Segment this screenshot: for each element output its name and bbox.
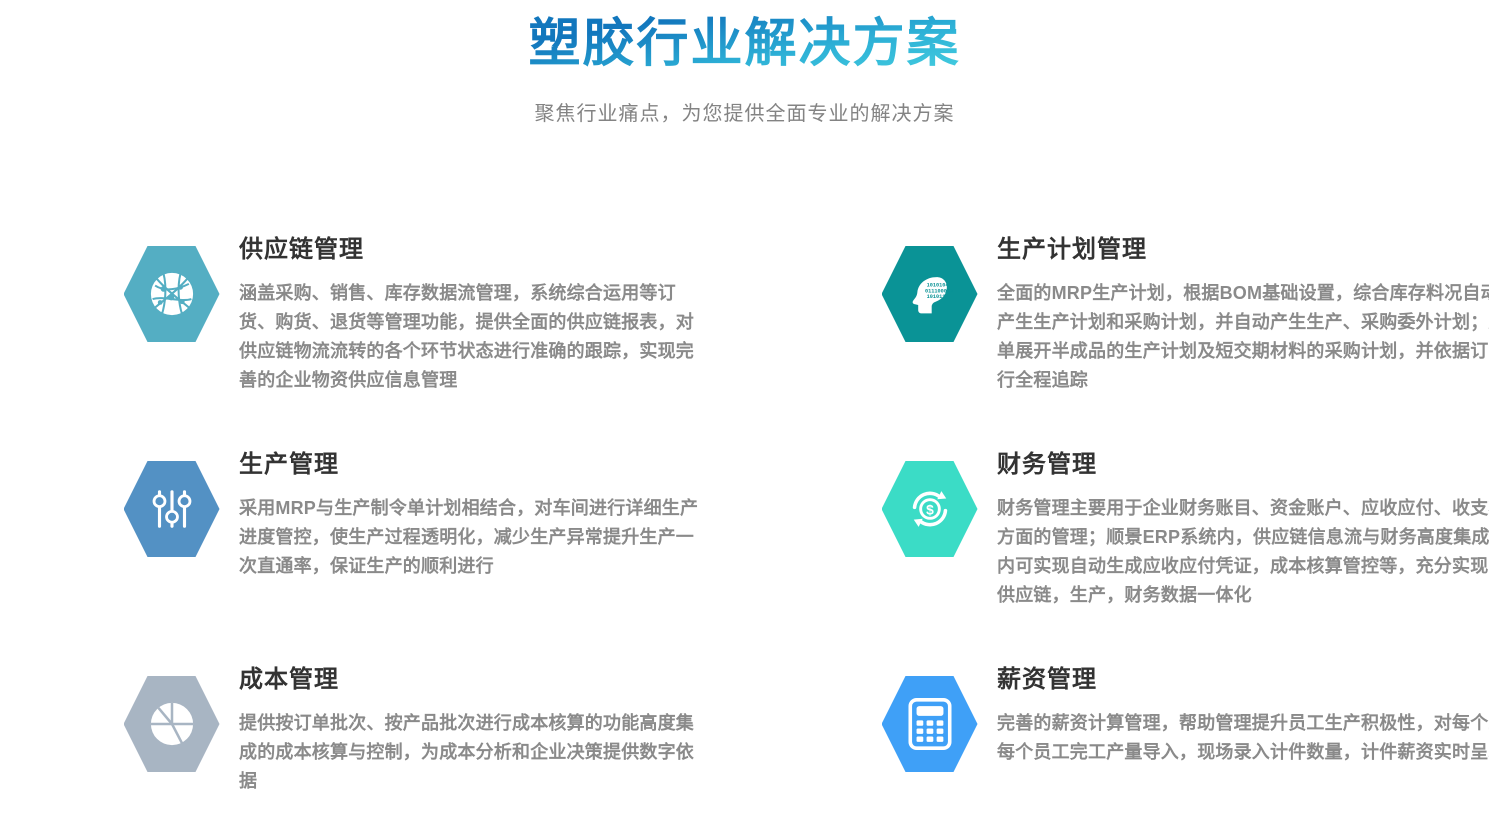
- feature-title: 生产计划管理: [997, 236, 1489, 265]
- feature-card-supply-chain[interactable]: 供应链管理 涵盖采购、销售、库存数据流管理，系统综合运用等订货、购货、退货等管理…: [118, 232, 848, 447]
- sliders-icon: [147, 483, 197, 535]
- feature-icon-badge: [876, 674, 983, 774]
- feature-card-production-plan[interactable]: 1010104 011100010 1010111 生产计划管理 全面的MRP生…: [876, 232, 1489, 447]
- feature-description: 提供按订单批次、按产品批次进行成本核算的功能高度集成的成本核算与控制，为成本分析…: [239, 709, 707, 796]
- feature-icon-badge: [118, 244, 225, 344]
- calculator-icon: [907, 698, 953, 750]
- pie-chart-icon: [145, 697, 199, 751]
- feature-card-cost[interactable]: 成本管理 提供按订单批次、按产品批次进行成本核算的功能高度集成的成本核算与控制，…: [118, 662, 848, 836]
- feature-card-finance[interactable]: $ 财务管理 财务管理主要用于企业财务账目、资金账户、应收应付、收支状况等方面的…: [876, 447, 1489, 662]
- feature-description: 财务管理主要用于企业财务账目、资金账户、应收应付、收支状况等方面的管理；顺景ER…: [997, 494, 1489, 611]
- hexagon-shape: [124, 244, 220, 344]
- feature-text: 生产管理 采用MRP与生产制令单计划相结合，对车间进行详细生产进度管控，使生产过…: [239, 447, 707, 581]
- network-globe-icon: [145, 267, 199, 321]
- feature-text: 生产计划管理 全面的MRP生产计划，根据BOM基础设置，综合库存料况自动计算产生…: [997, 232, 1489, 395]
- hexagon-shape: [124, 674, 220, 774]
- svg-text:$: $: [926, 502, 934, 518]
- hexagon-shape: $: [882, 459, 978, 559]
- feature-grid: 供应链管理 涵盖采购、销售、库存数据流管理，系统综合运用等订货、购货、退货等管理…: [0, 232, 1489, 836]
- hexagon-shape: [124, 459, 220, 559]
- page-header: 塑胶行业解决方案 聚焦行业痛点，为您提供全面专业的解决方案: [0, 0, 1489, 126]
- feature-title: 供应链管理: [239, 236, 707, 265]
- feature-icon-badge: [118, 674, 225, 774]
- brain-binary-head-icon: 1010104 011100010 1010111: [903, 267, 957, 321]
- feature-icon-badge: [118, 459, 225, 559]
- feature-text: 薪资管理 完善的薪资计算管理，帮助管理提升员工生产积极性，对每个工序的每个员工完…: [997, 662, 1489, 767]
- feature-icon-badge: $: [876, 459, 983, 559]
- feature-icon-badge: 1010104 011100010 1010111: [876, 244, 983, 344]
- feature-text: 供应链管理 涵盖采购、销售、库存数据流管理，系统综合运用等订货、购货、退货等管理…: [239, 232, 707, 395]
- hexagon-shape: 1010104 011100010 1010111: [882, 244, 978, 344]
- feature-description: 全面的MRP生产计划，根据BOM基础设置，综合库存料况自动计算产生生产计划和采购…: [997, 279, 1489, 396]
- hexagon-shape: [882, 674, 978, 774]
- feature-description: 完善的薪资计算管理，帮助管理提升员工生产积极性，对每个工序的每个员工完工产量导入…: [997, 709, 1489, 767]
- feature-text: 财务管理 财务管理主要用于企业财务账目、资金账户、应收应付、收支状况等方面的管理…: [997, 447, 1489, 610]
- feature-title: 薪资管理: [997, 666, 1489, 695]
- feature-description: 涵盖采购、销售、库存数据流管理，系统综合运用等订货、购货、退货等管理功能，提供全…: [239, 279, 707, 396]
- feature-title: 财务管理: [997, 451, 1489, 480]
- feature-title: 生产管理: [239, 451, 707, 480]
- feature-card-production[interactable]: 生产管理 采用MRP与生产制令单计划相结合，对车间进行详细生产进度管控，使生产过…: [118, 447, 848, 662]
- feature-card-payroll[interactable]: 薪资管理 完善的薪资计算管理，帮助管理提升员工生产积极性，对每个工序的每个员工完…: [876, 662, 1489, 836]
- feature-text: 成本管理 提供按订单批次、按产品批次进行成本核算的功能高度集成的成本核算与控制，…: [239, 662, 707, 796]
- svg-text:1010111: 1010111: [926, 294, 948, 300]
- feature-description: 采用MRP与生产制令单计划相结合，对车间进行详细生产进度管控，使生产过程透明化，…: [239, 494, 707, 581]
- solution-page: 塑胶行业解决方案 聚焦行业痛点，为您提供全面专业的解决方案: [0, 0, 1489, 836]
- currency-refresh-icon: $: [904, 483, 956, 535]
- page-title: 塑胶行业解决方案: [528, 14, 960, 75]
- feature-title: 成本管理: [239, 666, 707, 695]
- page-subtitle: 聚焦行业痛点，为您提供全面专业的解决方案: [0, 97, 1489, 126]
